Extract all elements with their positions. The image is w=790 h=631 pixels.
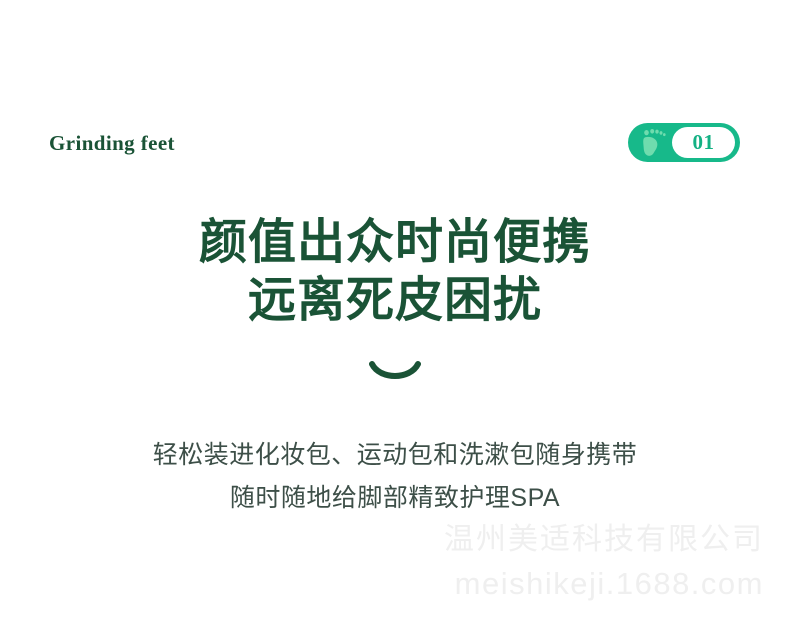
divider	[0, 360, 790, 384]
promo-page: Grinding feet 01 颜值出众时尚便携 远离	[0, 0, 790, 631]
section-number-badge: 01	[628, 123, 740, 162]
watermark-url: meishikeji.1688.com	[444, 562, 764, 606]
eyebrow-title: Grinding feet	[49, 118, 175, 168]
body-line-1: 轻松装进化妆包、运动包和洗漱包随身携带	[0, 434, 790, 477]
badge-number: 01	[693, 132, 715, 153]
smile-curve-divider-icon	[367, 360, 423, 384]
header-row: Grinding feet 01	[0, 118, 790, 168]
watermark: 温州美适科技有限公司 meishikeji.1688.com	[444, 518, 764, 606]
headline-line-2: 远离死皮困扰	[0, 272, 790, 330]
badge-number-container: 01	[672, 127, 735, 158]
watermark-company: 温州美适科技有限公司	[444, 518, 764, 562]
headline-line-1: 颜值出众时尚便携	[0, 214, 790, 272]
headline: 颜值出众时尚便携 远离死皮困扰	[0, 214, 790, 330]
body-copy: 轻松装进化妆包、运动包和洗漱包随身携带 随时随地给脚部精致护理SPA	[0, 434, 790, 520]
footprint-icon	[636, 128, 670, 158]
body-line-2: 随时随地给脚部精致护理SPA	[0, 477, 790, 520]
